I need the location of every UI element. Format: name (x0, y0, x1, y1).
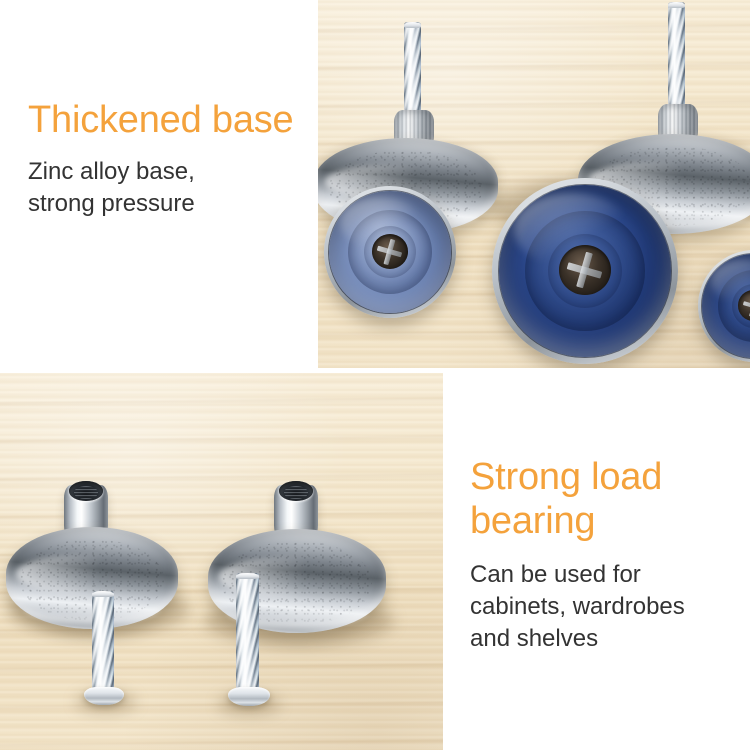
loose-threaded-bolt (84, 591, 124, 711)
bolt-pan-head (228, 687, 270, 706)
blue-plastic-cap (492, 178, 678, 364)
bolt-tip (236, 573, 259, 579)
feature-text-top-left: Thickened base Zinc alloy base, strong p… (28, 98, 306, 220)
socket-internal-threads (74, 486, 99, 499)
loose-threaded-bolt (228, 573, 270, 713)
product-photo-bottom (0, 373, 443, 750)
bolt-tip (668, 2, 685, 8)
bolt-pan-head (84, 687, 124, 705)
threaded-bolt-shaft (92, 591, 114, 691)
product-feature-image: Thickened base Zinc alloy base, strong p… (0, 0, 750, 750)
cross-head-screw (559, 245, 611, 295)
feature-text-bottom-right: Strong load bearing Can be used for cabi… (470, 455, 736, 655)
socket-internal-threads (284, 486, 309, 499)
feature-subtext-strong-load-bearing: Can be used for cabinets, wardrobes and … (470, 559, 736, 655)
threaded-bolt-shaft (404, 22, 421, 112)
threaded-bolt-shaft (668, 2, 685, 106)
product-photo-top (318, 0, 750, 368)
threaded-bolt-shaft (236, 573, 259, 691)
feature-headline-strong-load-bearing: Strong load bearing (470, 455, 736, 543)
blue-plastic-cap (324, 186, 456, 318)
feature-subtext-thickened-base: Zinc alloy base, strong pressure (28, 156, 306, 220)
bolt-tip (92, 591, 114, 597)
feature-headline-thickened-base: Thickened base (28, 98, 306, 142)
bolt-tip (404, 22, 421, 28)
